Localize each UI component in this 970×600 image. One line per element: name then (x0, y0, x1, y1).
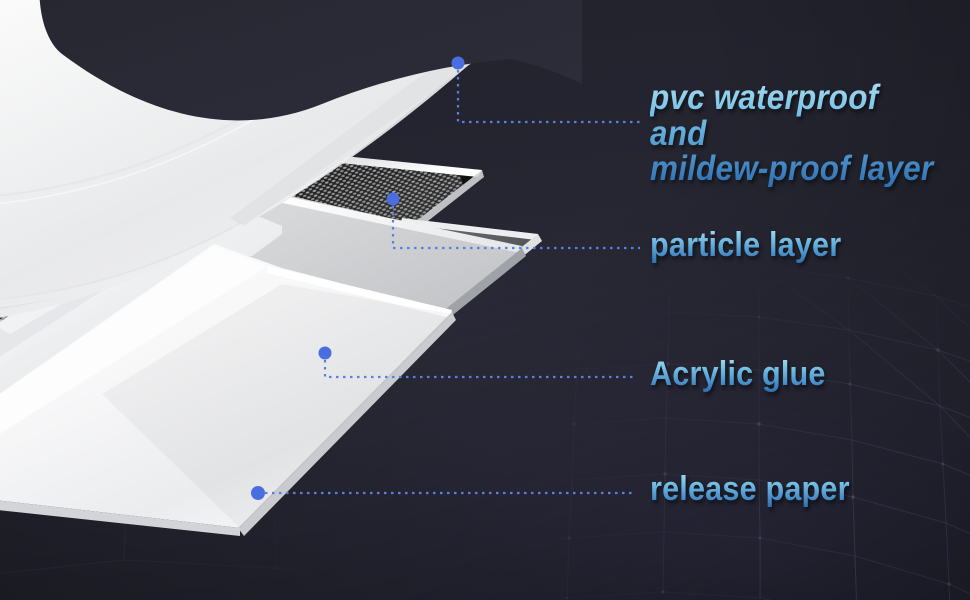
label-particle-layer: particle layer (650, 228, 841, 263)
label-acrylic-glue: Acrylic glue (650, 357, 826, 392)
label-pvc-waterproof-layer: pvc waterproof and mildew-proof layer (650, 80, 938, 187)
callout-labels: pvc waterproof and mildew-proof layer pa… (0, 0, 970, 600)
label-release-paper: release paper (650, 472, 850, 507)
layer-structure-diagram: pvc waterproof and mildew-proof layer pa… (0, 0, 970, 600)
